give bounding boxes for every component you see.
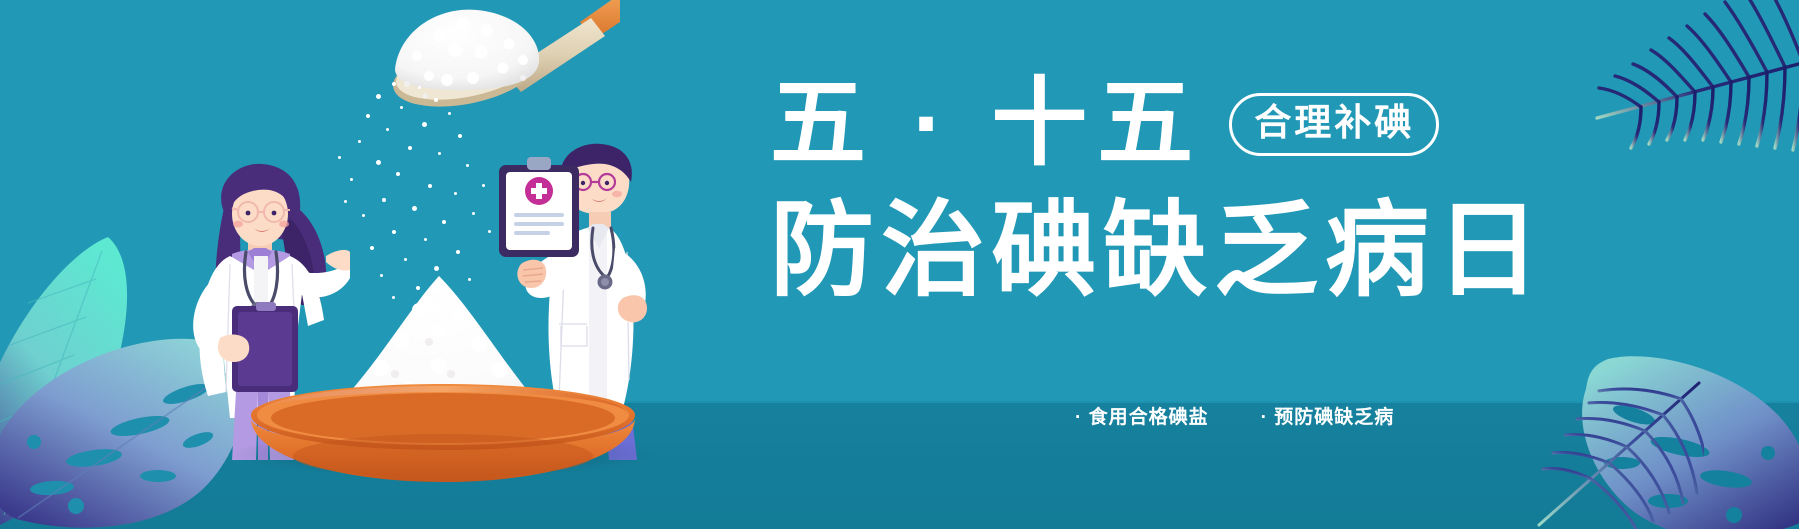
slogan-badge: 合理补碘 — [1229, 93, 1439, 156]
tagline-2: · 预防碘缺乏病 — [1261, 406, 1395, 430]
tagline-1: · 食用合格碘盐 — [1075, 406, 1209, 430]
headline-date: 五 · 十五 — [770, 76, 1203, 172]
salt-bowl-illustration — [243, 270, 643, 485]
headline-block: 五 · 十五 合理补碘 防治碘缺乏病日 — [770, 74, 1650, 306]
headline-line-1-row: 五 · 十五 合理补碘 — [770, 74, 1650, 174]
headline-title: 防治碘缺乏病日 — [770, 196, 1650, 306]
tagline-row: · 食用合格碘盐 · 预防碘缺乏病 — [1075, 398, 1495, 438]
medical-chart-clipboard — [497, 155, 581, 259]
iodine-deficiency-day-banner: 五 · 十五 合理补碘 防治碘缺乏病日 · 食用合格碘盐 · 预防碘缺乏病 — [0, 0, 1799, 529]
